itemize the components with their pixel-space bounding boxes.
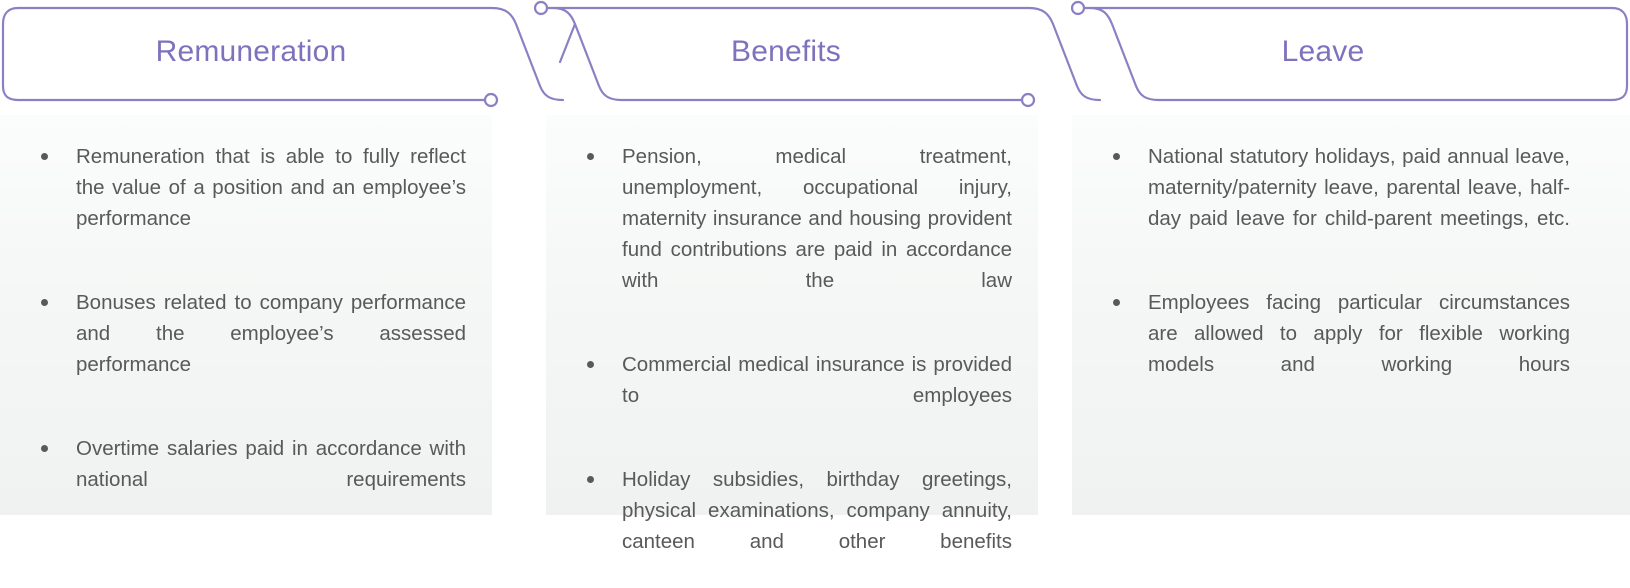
list-item: Bonuses related to company performance a… xyxy=(26,287,466,411)
list-item: Overtime salaries paid in accordance wit… xyxy=(26,433,466,526)
list-item: Remuneration that is able to fully refle… xyxy=(26,141,466,265)
list-item-text: National statutory holidays, paid annual… xyxy=(1148,141,1570,265)
list-item-text: Bonuses related to company performance a… xyxy=(76,287,466,411)
list-item-text: Pension, medical treatment, unemployment… xyxy=(622,141,1012,327)
bullet-dot-icon xyxy=(41,445,48,452)
list-item-text: Commercial medical insurance is provided… xyxy=(622,349,1012,442)
bullet-list-leave: National statutory holidays, paid annual… xyxy=(1098,141,1570,411)
bullet-dot-icon xyxy=(587,361,594,368)
list-item: Pension, medical treatment, unemployment… xyxy=(572,141,1012,327)
list-item: Holiday subsidies, birthday greetings, p… xyxy=(572,464,1012,588)
list-item: Commercial medical insurance is provided… xyxy=(572,349,1012,442)
bullet-dot-icon xyxy=(41,153,48,160)
list-item-text: Overtime salaries paid in accordance wit… xyxy=(76,433,466,526)
list-item-text: Remuneration that is able to fully refle… xyxy=(76,141,466,265)
bullet-list-remuneration: Remuneration that is able to fully refle… xyxy=(26,141,466,526)
list-item-text: Holiday subsidies, birthday greetings, p… xyxy=(622,464,1012,588)
list-item-text: Employees facing particular circumstance… xyxy=(1148,287,1570,411)
list-item: National statutory holidays, paid annual… xyxy=(1098,141,1570,265)
bullet-dot-icon xyxy=(1113,299,1120,306)
list-item: Employees facing particular circumstance… xyxy=(1098,287,1570,411)
bullet-dot-icon xyxy=(587,476,594,483)
bullet-dot-icon xyxy=(587,153,594,160)
content-panel-leave: National statutory holidays, paid annual… xyxy=(1072,115,1630,515)
bullet-list-benefits: Pension, medical treatment, unemployment… xyxy=(572,141,1012,588)
column-title-leave: Leave xyxy=(1082,0,1564,104)
three-column-infographic: Remuneration Benefits Leave Remuneration… xyxy=(0,0,1630,530)
content-panel-benefits: Pension, medical treatment, unemployment… xyxy=(546,115,1038,515)
column-title-remuneration: Remuneration xyxy=(10,0,492,104)
bullet-dot-icon xyxy=(41,299,48,306)
bullet-dot-icon xyxy=(1113,153,1120,160)
header-ribbon-group: Remuneration Benefits Leave xyxy=(0,0,1630,110)
column-title-benefits: Benefits xyxy=(545,0,1027,104)
content-panel-remuneration: Remuneration that is able to fully refle… xyxy=(0,115,492,515)
